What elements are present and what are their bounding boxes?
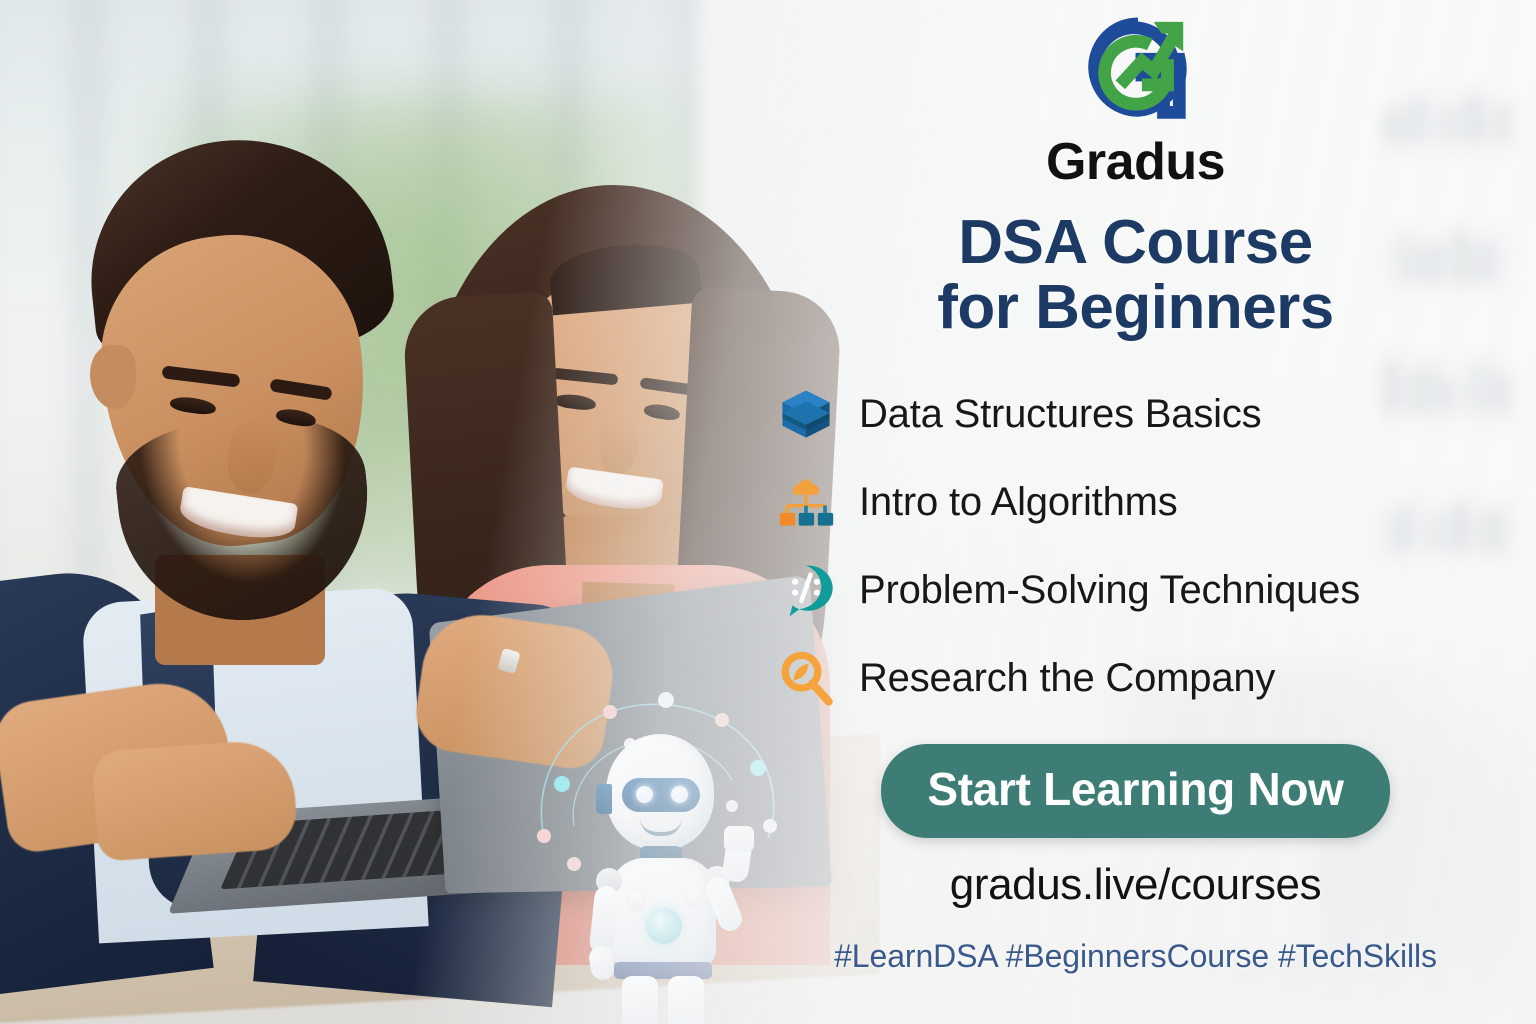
robot-visor xyxy=(622,778,700,812)
course-url[interactable]: gradus.live/courses xyxy=(950,860,1321,910)
robot-leg-right xyxy=(668,976,704,1024)
robot-chest-light xyxy=(684,882,704,908)
hierarchy-tree-icon xyxy=(777,473,835,531)
list-item: Research the Company xyxy=(777,634,1536,722)
brand-block: Gradus xyxy=(1046,14,1225,188)
list-item: Data Structures Basics xyxy=(777,370,1536,458)
code-speech-bubble-icon xyxy=(777,561,835,619)
robot-eye-right xyxy=(671,786,688,803)
headline-line-2: for Beginners xyxy=(937,275,1334,340)
list-item: Problem-Solving Techniques xyxy=(777,546,1536,634)
list-item: Intro to Algorithms xyxy=(777,458,1536,546)
robot-eye-left xyxy=(636,786,653,803)
content-panel: Gradus DSA Course for Beginners Data Str… xyxy=(735,0,1536,1024)
robot-leg-left xyxy=(622,976,658,1024)
robot-chest-light xyxy=(626,886,646,912)
feature-label: Problem-Solving Techniques xyxy=(859,568,1360,613)
cube-box-icon xyxy=(777,385,835,443)
page-title: DSA Course for Beginners xyxy=(937,210,1334,340)
hashtags: #LearnDSA #BeginnersCourse #TechSkills xyxy=(834,938,1437,975)
start-learning-button[interactable]: Start Learning Now xyxy=(881,744,1389,838)
headline-line-1: DSA Course xyxy=(958,208,1312,277)
magnifier-icon xyxy=(777,649,835,707)
feature-list: Data Structures Basics Intro to Algorith… xyxy=(735,370,1536,722)
feature-label: Research the Company xyxy=(859,656,1275,701)
gradus-g-arrow-logo-icon xyxy=(1077,14,1195,132)
man-hand-second xyxy=(91,738,298,862)
man-ear xyxy=(90,345,136,409)
robot-core-light xyxy=(646,908,682,944)
brand-name: Gradus xyxy=(1046,136,1225,188)
feature-label: Data Structures Basics xyxy=(859,392,1261,437)
feature-label: Intro to Algorithms xyxy=(859,480,1178,525)
robot-ear-piece xyxy=(596,784,612,814)
dsa-course-banner: Gradus DSA Course for Beginners Data Str… xyxy=(0,0,1536,1024)
